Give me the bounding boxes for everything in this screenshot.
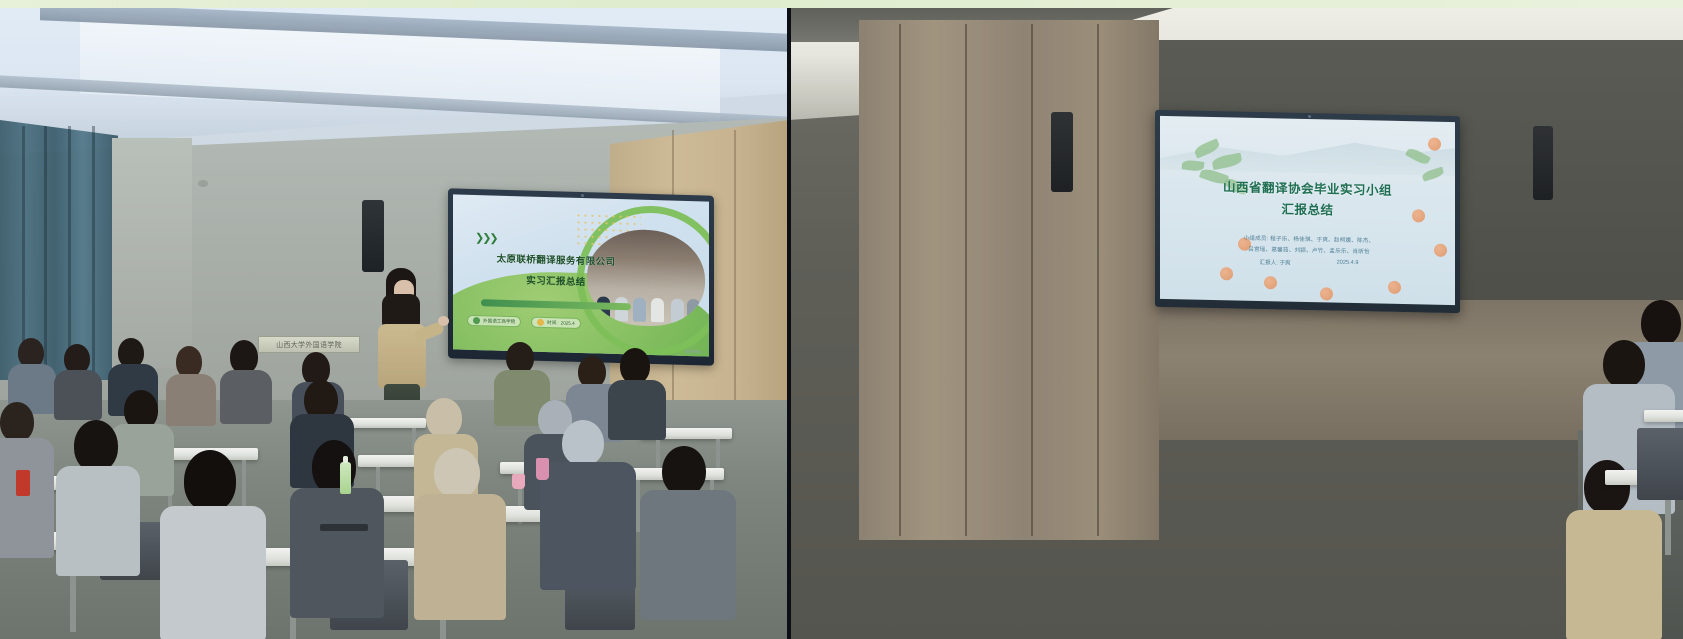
slide-flower bbox=[1220, 267, 1233, 280]
slide-chip-org: 外国语工商学院 bbox=[467, 315, 521, 328]
wall-speaker bbox=[362, 200, 384, 272]
desk-leg bbox=[242, 460, 246, 508]
panel-divider bbox=[787, 0, 791, 639]
right-slide-footer: 汇报人: 于爽 2025.4.9 bbox=[1178, 256, 1440, 269]
left-photo-panel: 山西大学外国语学院 ❯❯❯ 太原联桥翻译服务有限公司 实习汇报总结 bbox=[0, 0, 789, 639]
slide-flower bbox=[1388, 281, 1401, 294]
curtain-fold bbox=[44, 126, 47, 376]
pink-cup bbox=[512, 474, 525, 489]
presenter-hand bbox=[438, 316, 449, 326]
chip-dot-icon bbox=[537, 319, 544, 326]
photo-collage: 山西大学外国语学院 ❯❯❯ 太原联桥翻译服务有限公司 实习汇报总结 bbox=[0, 0, 1683, 639]
screen-led-icon bbox=[1308, 115, 1311, 118]
reporter-name: 于爽 bbox=[1279, 260, 1290, 266]
right-display-screen: 山西省翻译协会毕业实习小组 汇报总结 小组成员: 程子乐、杨佳琪、于爽、赵柯媛、… bbox=[1155, 110, 1460, 313]
slide-flower bbox=[1320, 287, 1333, 300]
wall-speaker bbox=[1051, 112, 1073, 192]
left-presenter bbox=[370, 268, 442, 418]
right-wood-wall bbox=[859, 20, 1159, 540]
reporter-label: 汇报人: bbox=[1260, 260, 1278, 266]
left-wall-sign-text: 山西大学外国语学院 bbox=[276, 340, 342, 350]
smoke-detector-icon bbox=[198, 180, 208, 187]
wood-seam bbox=[1031, 24, 1033, 536]
chip-dot-icon bbox=[473, 317, 480, 324]
curtain-fold bbox=[68, 126, 71, 376]
screen-led-icon bbox=[581, 194, 584, 197]
left-wall-panel bbox=[112, 138, 192, 368]
top-accent-band bbox=[0, 0, 1683, 8]
wood-seam bbox=[899, 24, 901, 536]
pink-tumbler bbox=[536, 458, 549, 480]
left-wall-sign: 山西大学外国语学院 bbox=[258, 336, 360, 353]
slide-chevron-icon: ❯❯❯ bbox=[475, 231, 497, 245]
left-slide: ❯❯❯ 太原联桥翻译服务有限公司 实习汇报总结 外国语工商学院 时间: 2025… bbox=[453, 194, 709, 356]
right-photo-panel: 山西省翻译协会毕业实习小组 汇报总结 小组成员: 程子乐、杨佳琪、于爽、赵柯媛、… bbox=[789, 0, 1683, 639]
slide-chip-org-text: 外国语工商学院 bbox=[483, 318, 515, 325]
slide-chip-date-value: 2025.4 bbox=[561, 320, 575, 325]
chair bbox=[1637, 428, 1683, 500]
slide-flower bbox=[1428, 138, 1441, 151]
left-window-curtain bbox=[0, 120, 118, 380]
right-slide-title-line2: 汇报总结 bbox=[1170, 197, 1445, 224]
slide-chip-date: 时间: 2025.4 bbox=[531, 317, 581, 329]
left-display-screen: ❯❯❯ 太原联桥翻译服务有限公司 实习汇报总结 外国语工商学院 时间: 2025… bbox=[448, 188, 714, 365]
right-slide: 山西省翻译协会毕业实习小组 汇报总结 小组成员: 程子乐、杨佳琪、于爽、赵柯媛、… bbox=[1160, 116, 1455, 305]
slide-flower bbox=[1264, 276, 1277, 289]
slide-chip-date-label: 时间: bbox=[547, 320, 557, 326]
screen-brand-text: 智慧平板 bbox=[685, 349, 701, 355]
right-slide-reporter: 汇报人: 于爽 bbox=[1260, 258, 1291, 267]
left-slide-title: 太原联桥翻译服务有限公司 bbox=[471, 251, 641, 272]
curtain-fold bbox=[92, 126, 95, 376]
desk bbox=[1644, 410, 1683, 422]
wood-seam bbox=[1097, 24, 1099, 536]
phone-on-desk bbox=[320, 524, 368, 531]
right-slide-date: 2025.4.9 bbox=[1337, 260, 1359, 268]
water-bottle bbox=[340, 462, 351, 494]
wall-speaker bbox=[1533, 126, 1553, 200]
wood-seam bbox=[965, 24, 967, 536]
red-pen bbox=[16, 470, 30, 496]
